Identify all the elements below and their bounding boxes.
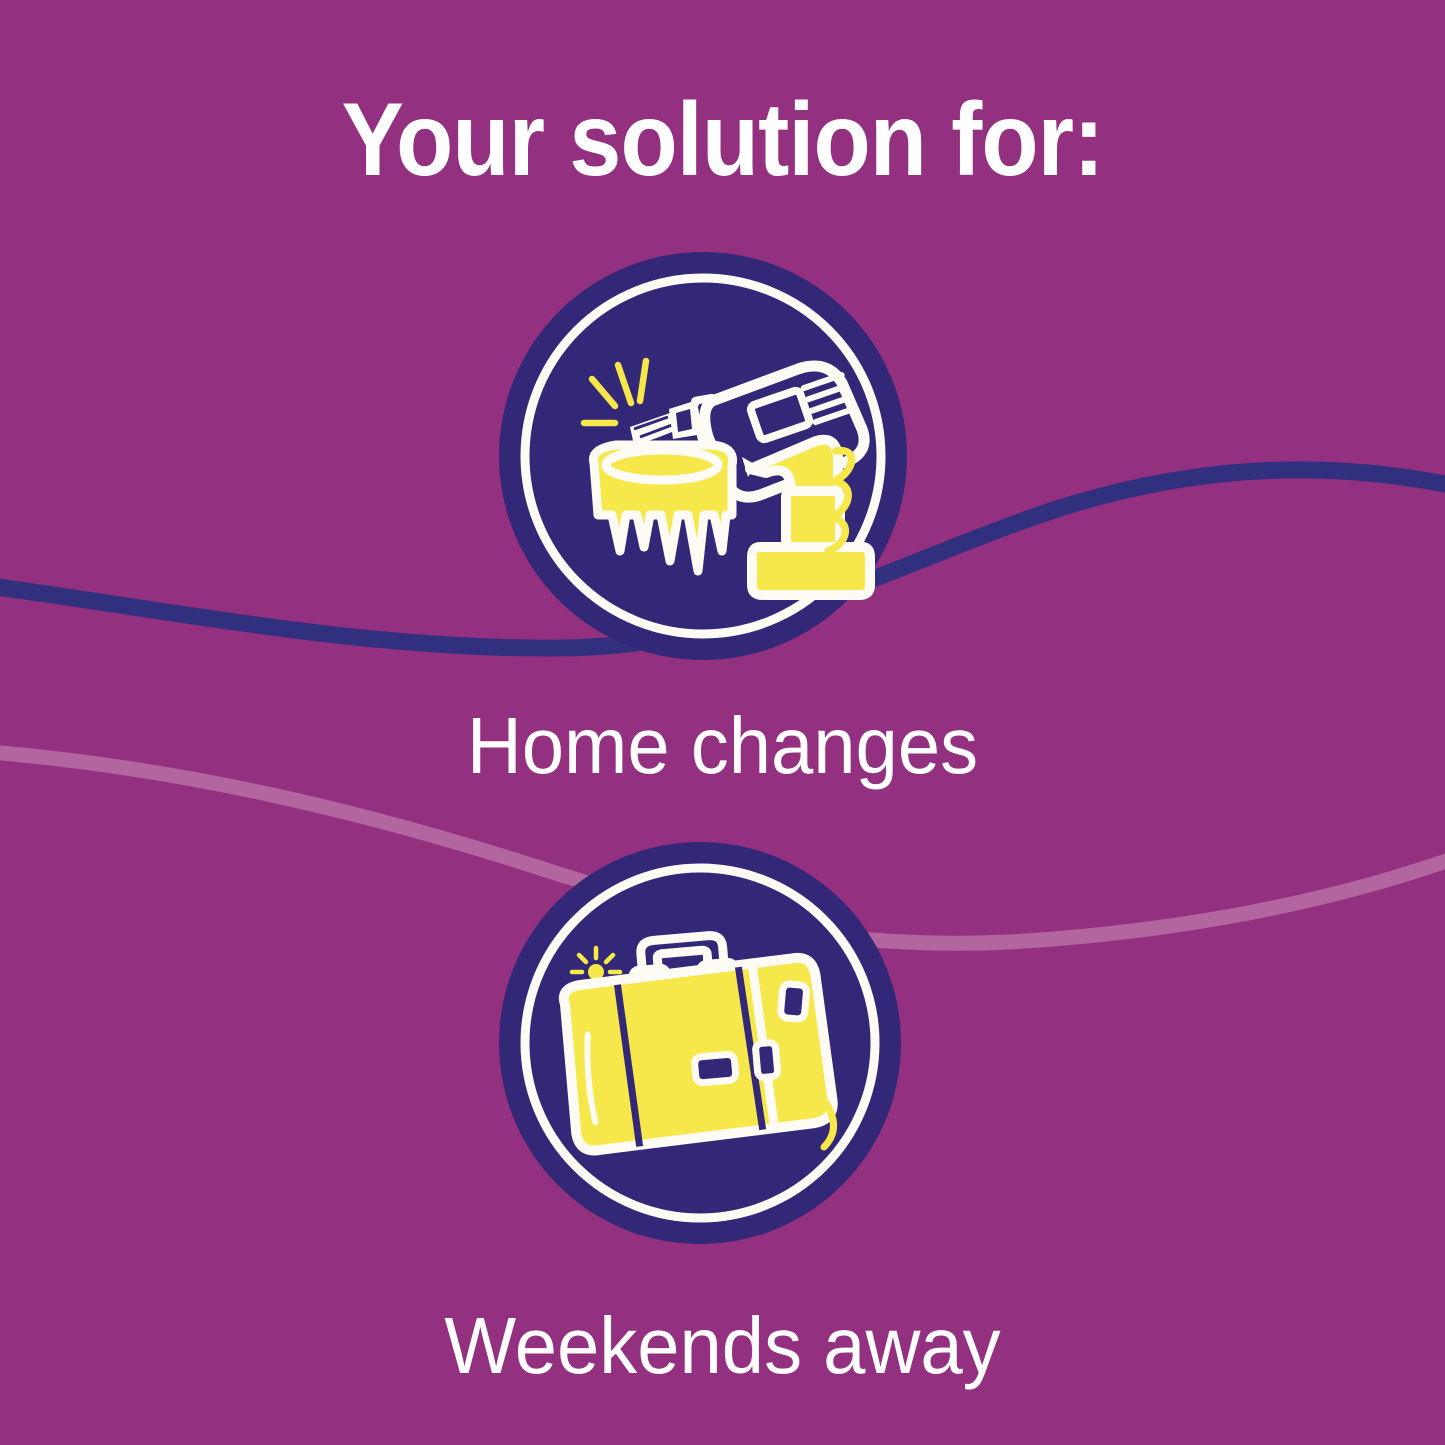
page-title: Your solution for: bbox=[72, 84, 1373, 196]
badge-home-changes[interactable] bbox=[498, 251, 908, 661]
caption-weekends-away: Weekends away bbox=[36, 1300, 1409, 1392]
promo-graphic: Your solution for: bbox=[0, 0, 1445, 1445]
badge-weekends-away[interactable] bbox=[498, 841, 902, 1245]
power-drill-icon bbox=[498, 251, 908, 661]
suitcase-clasp-center bbox=[694, 1054, 736, 1083]
caption-home-changes: Home changes bbox=[36, 700, 1409, 792]
suitcase-corner-tag bbox=[780, 983, 807, 1019]
suitcase-icon bbox=[498, 841, 902, 1245]
suitcase-clasp-side bbox=[755, 1042, 778, 1078]
